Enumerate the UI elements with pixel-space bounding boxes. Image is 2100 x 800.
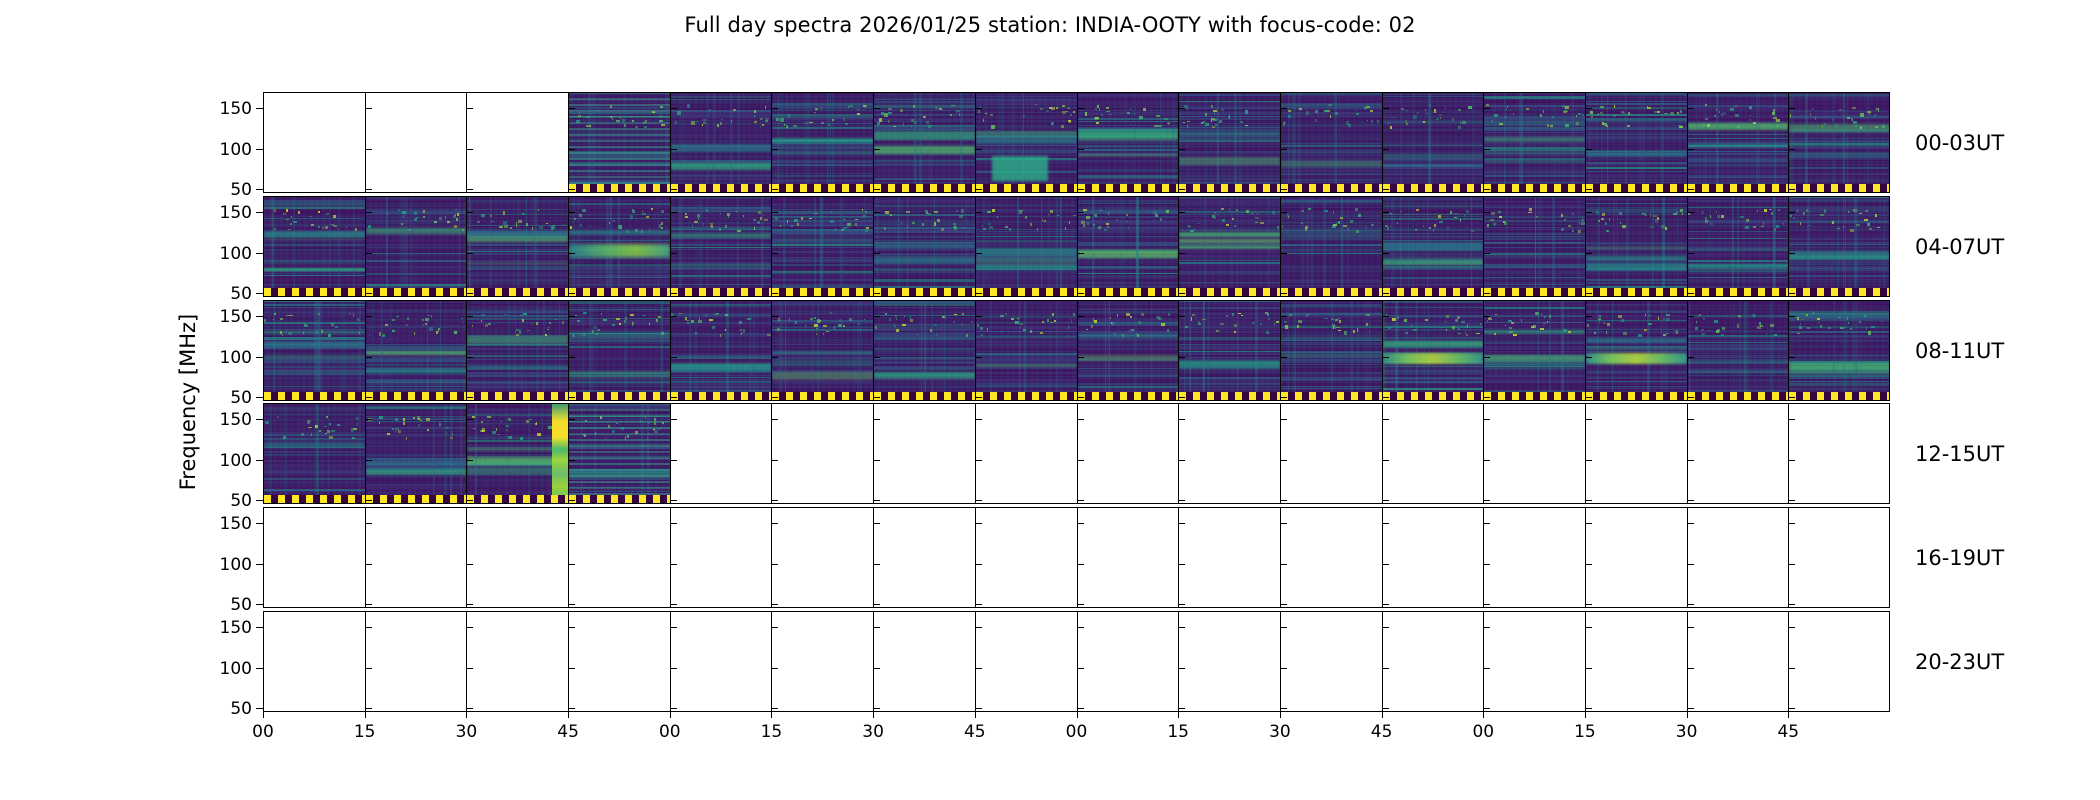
figure-canvas: Full day spectra 2026/01/25 station: IND… [0,0,2100,800]
y-tick-minor [568,564,575,565]
y-tick-minor [975,316,982,317]
page-title: Full day spectra 2026/01/25 station: IND… [0,13,2100,37]
empty-panel [1483,403,1585,504]
spectrogram-row: 15010050 [263,196,1890,297]
y-tick-minor [365,357,372,358]
x-tick-label: 15 [1167,722,1189,742]
y-tick-minor [1687,604,1694,605]
y-tick-minor [771,293,778,294]
y-tick-label: 50 [230,284,252,304]
spectrogram-image [1078,92,1179,193]
data-flag-strip [671,184,772,193]
spectrogram-image [1789,92,1890,193]
y-tick-minor [568,253,575,254]
data-flag-strip [1179,392,1280,401]
y-tick-minor [365,668,372,669]
y-tick-minor [670,316,677,317]
y-tick-minor [1077,357,1084,358]
spectrogram-panel [365,196,467,297]
y-tick-minor [1788,604,1795,605]
y-tick: 150 [256,627,263,628]
data-flag-strip [772,184,873,193]
y-tick-minor [466,500,473,501]
data-flag-strip [772,392,873,401]
empty-panel [670,403,772,504]
y-tick: 150 [256,108,263,109]
y-tick-minor [466,293,473,294]
spectrogram-image [1383,300,1484,401]
spectrogram-panel [1280,196,1382,297]
empty-panel [1077,403,1179,504]
y-tick-minor [365,293,372,294]
data-flag-strip [467,288,568,297]
y-tick-minor [1077,397,1084,398]
y-tick-minor [1585,708,1592,709]
spectrogram-panel [670,92,772,193]
data-flag-strip [1484,184,1585,193]
y-tick-minor [975,564,982,565]
empty-panel [771,611,873,712]
y-tick-minor [466,357,473,358]
y-tick-minor [1280,212,1287,213]
spectrogram-panel [873,92,975,193]
spectrogram-image [1383,92,1484,193]
y-tick-minor [1788,357,1795,358]
spectrogram-panel [670,300,772,401]
spectrogram-row: 15010050 [263,611,1890,712]
spectrogram-image [366,196,467,297]
row-panels [263,403,1890,504]
data-flag-strip [1484,392,1585,401]
y-tick-minor [771,316,778,317]
y-tick-label: 150 [220,410,252,430]
spectrogram-image [976,196,1077,297]
y-tick-label: 100 [220,348,252,368]
y-tick-minor [365,189,372,190]
y-tick-minor [1178,293,1185,294]
y-tick-minor [568,149,575,150]
y-tick-minor [1483,708,1490,709]
data-flag-strip [874,392,975,401]
y-tick-label: 50 [230,699,252,719]
y-tick-minor [1382,668,1389,669]
x-tick [1382,712,1383,718]
data-flag-strip [1383,184,1484,193]
empty-panel [365,92,467,193]
y-tick-minor [1178,212,1185,213]
y-tick-minor [1483,397,1490,398]
y-tick-minor [1077,316,1084,317]
y-tick-minor [1687,668,1694,669]
y-tick-minor [670,212,677,213]
y-tick-minor [466,708,473,709]
y-tick-label: 150 [220,618,252,638]
y-tick-minor [1077,627,1084,628]
y-tick-minor [1585,108,1592,109]
y-tick-minor [873,460,880,461]
y-tick-minor [1483,564,1490,565]
y-tick-minor [873,189,880,190]
y-tick-minor [466,668,473,669]
y-tick-minor [873,357,880,358]
y-tick-minor [873,397,880,398]
y-tick-minor [873,316,880,317]
empty-panel [1788,403,1890,504]
y-tick-minor [1280,108,1287,109]
empty-panel [1178,507,1280,608]
y-tick: 100 [256,668,263,669]
y-tick-minor [1483,604,1490,605]
data-flag-strip [1383,392,1484,401]
y-tick-minor [670,668,677,669]
spectrogram-image [671,92,772,193]
y-tick-label: 100 [220,659,252,679]
data-flag-strip [366,392,467,401]
y-tick-minor [670,108,677,109]
spectrogram-panel [771,92,873,193]
empty-panel [670,611,772,712]
y-tick-label: 50 [230,388,252,408]
y-tick-minor [1077,293,1084,294]
empty-panel [1178,403,1280,504]
y-tick-minor [1687,397,1694,398]
y-tick-minor [1077,523,1084,524]
empty-panel [1077,611,1179,712]
x-tick [1788,712,1789,718]
x-tick [568,712,569,718]
y-tick-minor [365,500,372,501]
empty-panel [873,403,975,504]
y-tick-minor [1483,108,1490,109]
y-tick-minor [771,564,778,565]
data-flag-strip [1281,392,1382,401]
spectrogram-panel [1483,300,1585,401]
data-flag-strip [1789,184,1890,193]
spectrogram-image [874,196,975,297]
data-flag-strip [1179,288,1280,297]
spectrogram-panel [568,196,670,297]
y-tick: 100 [256,253,263,254]
y-tick-minor [1585,293,1592,294]
empty-panel [1280,611,1382,712]
data-flag-strip [976,288,1077,297]
y-tick-minor [1382,253,1389,254]
y-tick-minor [975,668,982,669]
y-tick-minor [873,668,880,669]
data-flag-strip [1586,288,1687,297]
y-tick-minor [568,523,575,524]
y-tick-minor [1687,108,1694,109]
spectrogram-image [671,300,772,401]
y-tick-minor [1788,149,1795,150]
y-tick-minor [568,604,575,605]
y-tick-minor [1280,316,1287,317]
y-tick-minor [873,500,880,501]
y-tick-minor [1382,293,1389,294]
empty-panel [1382,403,1484,504]
y-tick-minor [1077,668,1084,669]
y-tick-minor [466,316,473,317]
y-tick-minor [670,523,677,524]
spectrogram-row: 15010050 [263,507,1890,608]
spectrogram-panel [1585,92,1687,193]
empty-panel [263,507,365,608]
y-tick-minor [975,419,982,420]
data-flag-strip [366,495,467,504]
spectrogram-panel [670,196,772,297]
empty-panel [975,611,1077,712]
y-tick-minor [1178,500,1185,501]
y-tick-minor [1483,316,1490,317]
y-tick-minor [771,419,778,420]
y-tick-minor [1280,500,1287,501]
data-flag-strip [772,288,873,297]
y-tick: 150 [256,316,263,317]
data-flag-strip [1281,288,1382,297]
empty-panel [365,611,467,712]
row-time-label: 00-03UT [1915,131,2004,155]
y-tick-minor [1077,419,1084,420]
y-tick-minor [1077,253,1084,254]
empty-panel [1382,611,1484,712]
y-tick-label: 150 [220,514,252,534]
row-time-label: 20-23UT [1915,650,2004,674]
y-tick-minor [1178,419,1185,420]
y-tick-minor [771,604,778,605]
x-tick [365,712,366,718]
spectrogram-panel [1280,92,1382,193]
y-tick-minor [365,708,372,709]
spectrogram-image [772,196,873,297]
spectrogram-image [1179,92,1280,193]
data-flag-strip [1586,184,1687,193]
y-tick-minor [1687,253,1694,254]
y-axis-label: Frequency [MHz] [176,92,202,712]
y-tick-minor [365,316,372,317]
y-tick-minor [1077,564,1084,565]
y-tick-minor [466,419,473,420]
spectrogram-image [1789,300,1890,401]
y-tick-minor [1178,668,1185,669]
data-flag-strip [569,288,670,297]
y-tick-minor [1788,460,1795,461]
spectrogram-panel [771,300,873,401]
y-tick: 150 [256,523,263,524]
y-tick-minor [1483,357,1490,358]
y-tick-minor [1687,189,1694,190]
empty-panel [1483,611,1585,712]
x-tick-label: 15 [354,722,376,742]
empty-panel [1483,507,1585,608]
y-tick-minor [1687,500,1694,501]
spectrogram-panel [975,300,1077,401]
y-tick-minor [568,668,575,669]
x-tick-label: 15 [761,722,783,742]
y-tick-minor [1585,604,1592,605]
spectrogram-image [1078,300,1179,401]
y-tick-minor [466,397,473,398]
y-tick-minor [1280,149,1287,150]
y-tick-minor [1687,564,1694,565]
y-tick-minor [1483,212,1490,213]
y-tick: 50 [256,293,263,294]
y-tick-minor [1483,253,1490,254]
spectrogram-panel [1687,196,1789,297]
x-tick-label: 00 [1472,722,1494,742]
data-flag-strip [1688,392,1789,401]
y-tick: 100 [256,564,263,565]
y-tick-minor [1585,397,1592,398]
empty-panel [873,507,975,608]
empty-panel [1687,507,1789,608]
y-tick-minor [466,108,473,109]
spectrogram-image [1484,300,1585,401]
y-tick-minor [1178,253,1185,254]
y-tick-minor [568,397,575,398]
y-tick-minor [1788,668,1795,669]
y-tick-minor [1788,397,1795,398]
row-panels [263,300,1890,401]
empty-panel [466,507,568,608]
empty-panel [466,611,568,712]
y-tick-minor [1788,564,1795,565]
row-panels [263,507,1890,608]
spectrogram-panel [1178,300,1280,401]
data-flag-strip [264,392,365,401]
y-tick-minor [670,604,677,605]
y-tick-minor [975,357,982,358]
y-tick-minor [1687,708,1694,709]
x-tick-label: 45 [557,722,579,742]
empty-panel [1280,507,1382,608]
spectrogram-image [671,196,772,297]
y-tick-minor [1077,460,1084,461]
y-tick-minor [365,460,372,461]
x-tick [1280,712,1281,718]
spectrogram-row: 15010050 [263,300,1890,401]
y-tick-minor [975,253,982,254]
spectrogram-image [1586,196,1687,297]
y-tick-label: 150 [220,307,252,327]
y-tick-minor [1788,293,1795,294]
data-flag-strip [569,392,670,401]
spectrogram-panel [1178,92,1280,193]
x-tick [771,712,772,718]
y-tick: 50 [256,500,263,501]
y-tick-minor [1280,523,1287,524]
y-axis-label-text: Frequency [MHz] [176,92,200,712]
data-flag-strip [467,495,568,504]
y-tick-minor [670,189,677,190]
y-tick-minor [568,419,575,420]
y-tick-minor [1687,212,1694,213]
y-tick-minor [1178,149,1185,150]
y-tick-minor [873,708,880,709]
y-tick-minor [1382,212,1389,213]
spectrogram-panel [365,300,467,401]
y-tick-minor [1178,189,1185,190]
data-flag-strip [1688,184,1789,193]
row-panels [263,196,1890,297]
y-tick-minor [1178,708,1185,709]
y-tick-minor [1687,293,1694,294]
y-tick-minor [771,500,778,501]
spectrogram-panel [771,196,873,297]
y-tick-minor [466,149,473,150]
data-flag-strip [976,184,1077,193]
empty-panel [568,611,670,712]
y-tick-minor [771,108,778,109]
y-tick-minor [1687,523,1694,524]
y-tick-minor [1280,668,1287,669]
empty-panel [873,611,975,712]
x-tick [466,712,467,718]
data-flag-strip [1789,392,1890,401]
y-tick-minor [771,668,778,669]
y-tick-minor [1178,397,1185,398]
spectrogram-image [1484,92,1585,193]
y-tick-minor [1687,460,1694,461]
row-time-label: 04-07UT [1915,235,2004,259]
data-flag-strip [366,288,467,297]
y-tick-minor [1788,212,1795,213]
spectrogram-image [1281,92,1382,193]
y-tick-minor [1280,564,1287,565]
x-tick [1585,712,1586,718]
y-tick-minor [1382,189,1389,190]
spectrogram-image [366,403,467,504]
y-tick-minor [1280,189,1287,190]
y-tick-minor [873,293,880,294]
empty-panel [568,507,670,608]
spectrogram-panel [1483,196,1585,297]
y-tick-minor [568,108,575,109]
y-tick-minor [670,397,677,398]
spectrogram-image [1688,92,1789,193]
y-tick-minor [975,293,982,294]
spectrogram-image [1179,196,1280,297]
spectrogram-image [1586,92,1687,193]
y-tick-minor [1077,189,1084,190]
spectrogram-panel [568,300,670,401]
y-tick-minor [1280,293,1287,294]
y-tick-minor [873,253,880,254]
spectrogram-image [1688,300,1789,401]
spectrogram-panel [1687,300,1789,401]
y-tick-minor [568,316,575,317]
empty-panel [975,403,1077,504]
y-tick-minor [1382,460,1389,461]
y-tick-minor [1178,523,1185,524]
y-tick-minor [670,460,677,461]
spectrogram-image [467,300,568,401]
spectrogram-image [264,196,365,297]
y-tick-minor [568,627,575,628]
y-tick-minor [466,460,473,461]
y-tick-minor [1280,253,1287,254]
y-tick: 100 [256,357,263,358]
y-tick-label: 150 [220,99,252,119]
spectrogram-image [569,92,670,193]
x-tick [1077,712,1078,718]
y-tick-minor [1687,316,1694,317]
y-tick-minor [365,149,372,150]
y-tick-minor [466,189,473,190]
spectrogram-image [1078,196,1179,297]
spectrogram-image [264,300,365,401]
y-tick-minor [1382,604,1389,605]
empty-panel [1687,403,1789,504]
